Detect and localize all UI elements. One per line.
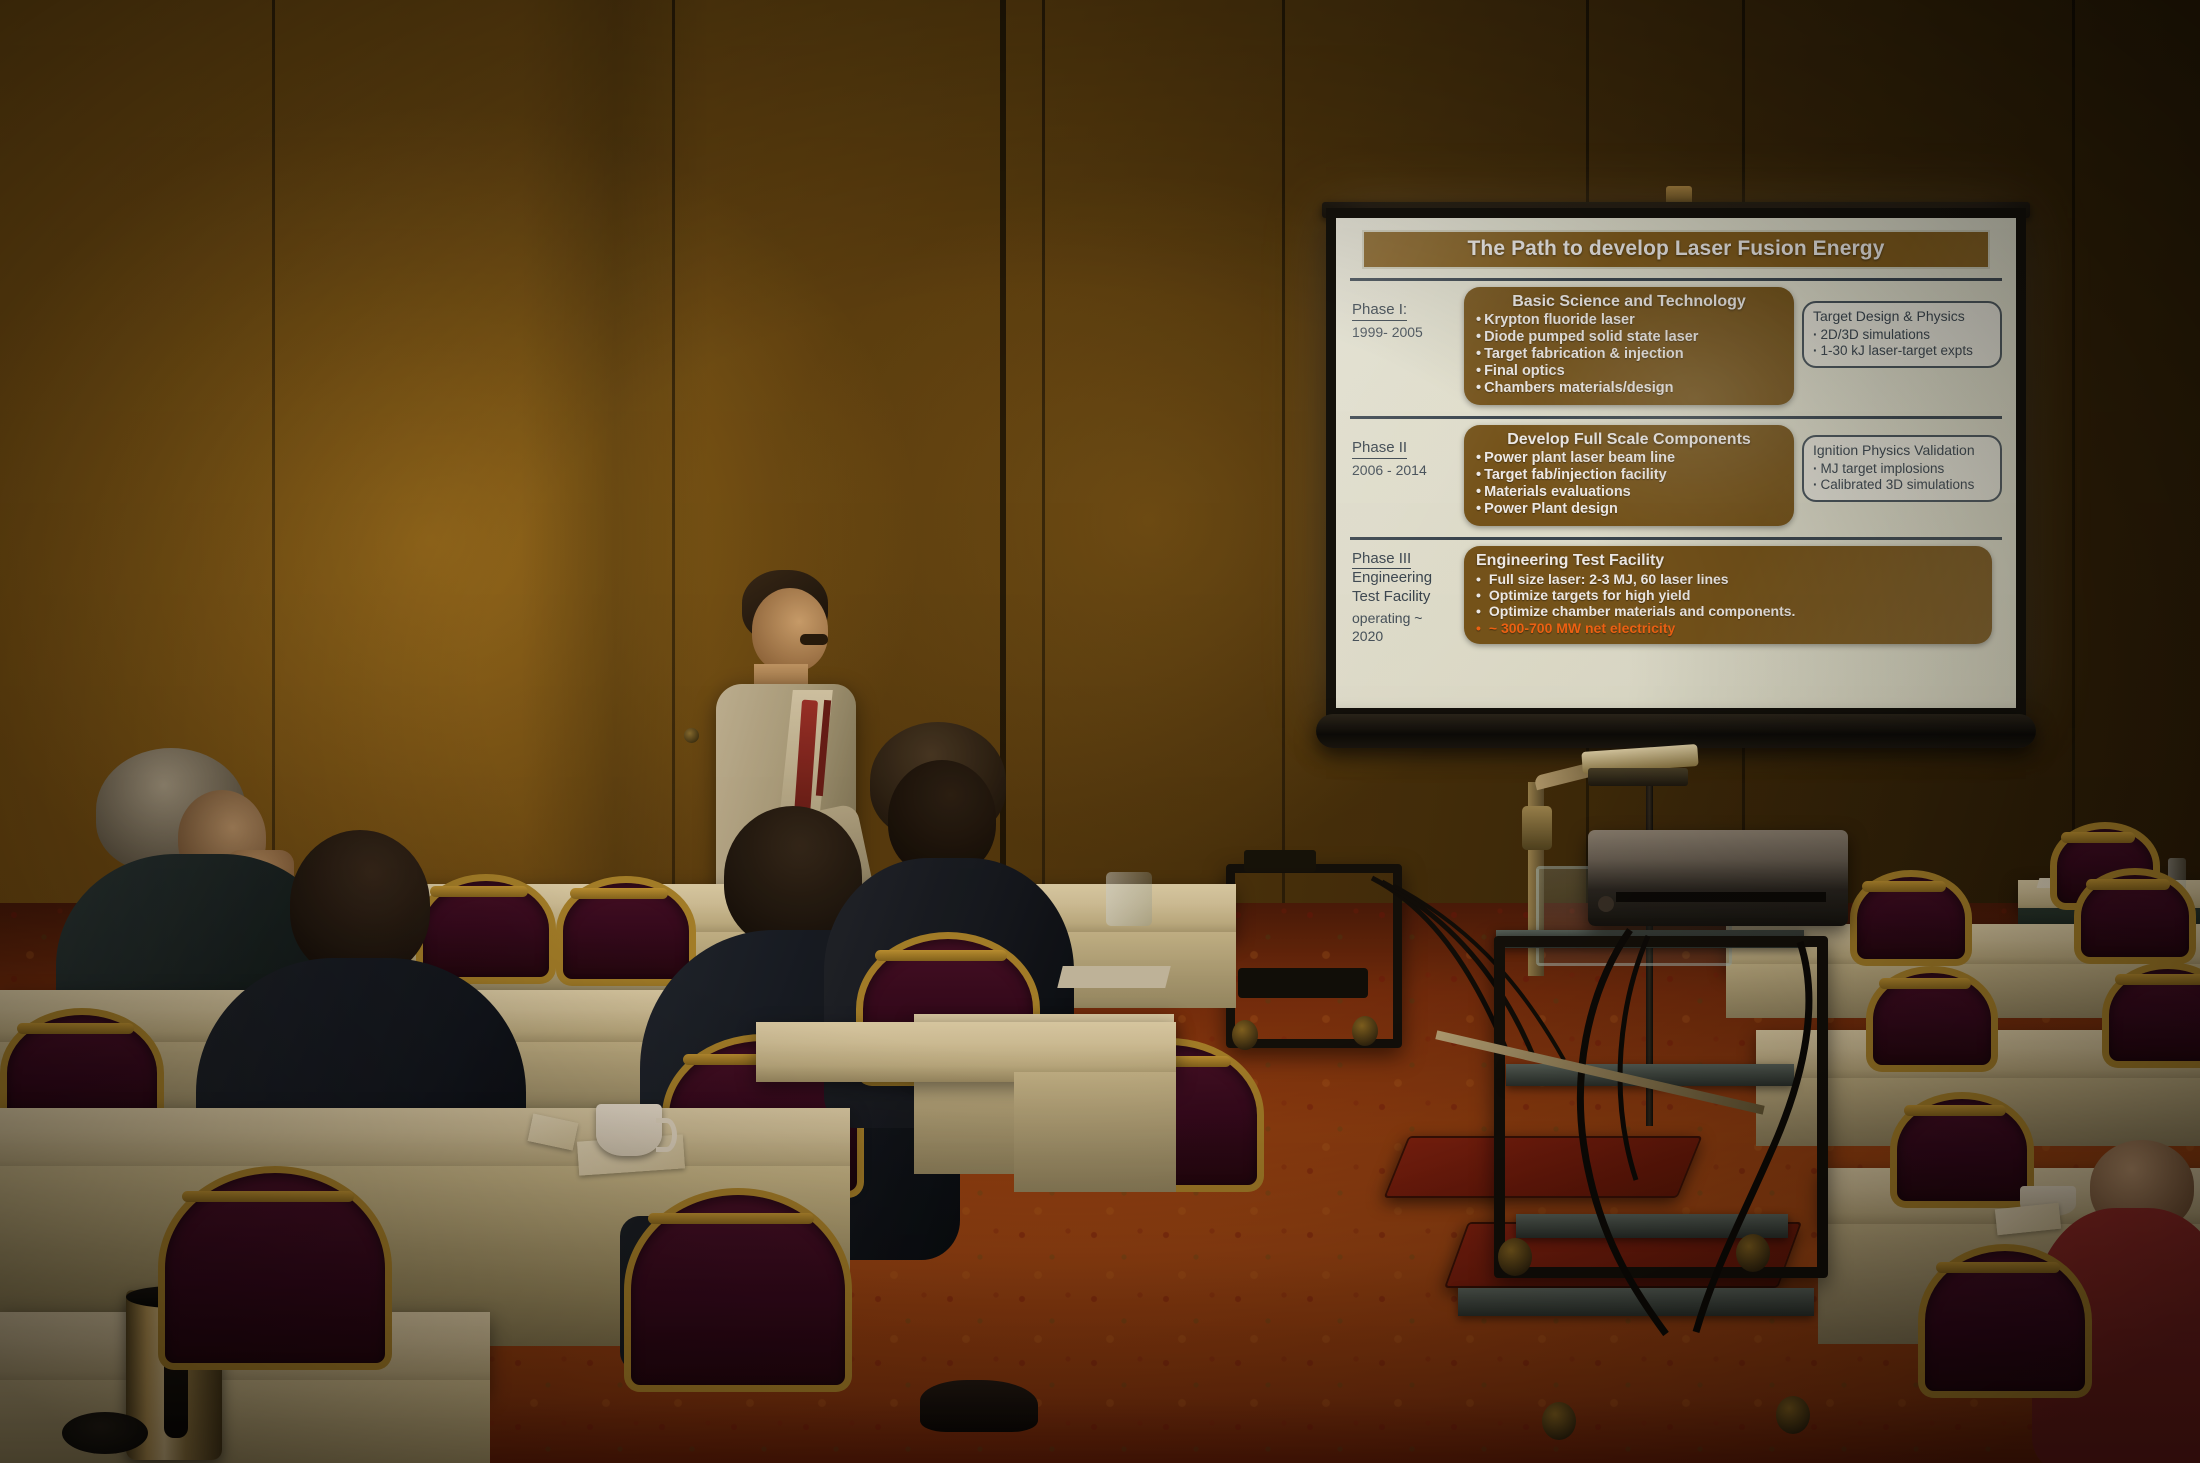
phase-label: Phase III Engineering Test Facility oper… xyxy=(1352,546,1456,646)
banquet-chair xyxy=(1866,966,1984,1058)
presenter-moustache xyxy=(800,634,828,645)
wall-fixture xyxy=(684,728,699,743)
cart-caster xyxy=(1542,1402,1576,1440)
av-device xyxy=(1244,850,1316,872)
banquet-chair xyxy=(416,874,542,970)
bullet-item: Optimize chamber materials and component… xyxy=(1476,603,1980,619)
bullet-item: Krypton fluoride laser xyxy=(1476,312,1782,329)
phase-label: Phase I: 1999- 2005 xyxy=(1352,287,1456,341)
phase-name: Phase III xyxy=(1352,550,1411,570)
chair-back-rail xyxy=(2061,832,2136,843)
bullet-item: 2D/3D simulations xyxy=(1813,327,1991,343)
bullet-item: Materials evaluations xyxy=(1476,484,1782,501)
chair-back-rail xyxy=(875,950,1008,961)
av-device xyxy=(1238,968,1368,998)
overhead-projector-mirror-housing xyxy=(1588,768,1688,786)
phase-main-box: Basic Science and Technology Krypton flu… xyxy=(1464,287,1794,405)
slide-divider xyxy=(1350,537,2002,540)
cart-cables xyxy=(1470,918,1830,1338)
side-bullet-list: MJ target implosions Calibrated 3D simul… xyxy=(1813,461,1991,494)
slide-phase-row: Phase I: 1999- 2005 Basic Science and Te… xyxy=(1348,285,2004,407)
bullet-item: Calibrated 3D simulations xyxy=(1813,477,1991,493)
box-bullet-list: Krypton fluoride laser Diode pumped soli… xyxy=(1476,312,1782,397)
person-head xyxy=(290,830,430,978)
phase-main-box: Engineering Test Facility Full size lase… xyxy=(1464,546,1992,645)
phase-years: operating ~ 2020 xyxy=(1352,609,1456,645)
overhead-projector-focus-knob xyxy=(1522,806,1552,850)
chair-back-rail xyxy=(570,888,668,899)
phase-side-box: Target Design & Physics 2D/3D simulation… xyxy=(1802,301,2002,368)
bullet-item: 1-30 kJ laser-target expts xyxy=(1813,343,1991,359)
phase-name: Phase I: xyxy=(1352,301,1407,321)
box-heading: Develop Full Scale Components xyxy=(1476,431,1782,449)
coffee-cup xyxy=(596,1104,662,1156)
banquet-chair xyxy=(1918,1244,2078,1384)
slide-title: The Path to develop Laser Fusion Energy xyxy=(1364,237,1988,261)
banquet-chair xyxy=(0,1008,150,1124)
mug-lid xyxy=(62,1412,148,1454)
chair-back-rail xyxy=(182,1191,354,1202)
screen-bottom-bar xyxy=(1316,714,2036,748)
slide-divider xyxy=(1350,416,2002,419)
box-bullet-list: Power plant laser beam line Target fab/i… xyxy=(1476,450,1782,518)
banquet-chair xyxy=(556,876,682,972)
slide-phase-row: Phase III Engineering Test Facility oper… xyxy=(1348,544,2004,648)
phase-name-line2: Engineering xyxy=(1352,569,1456,588)
phase-label: Phase II 2006 - 2014 xyxy=(1352,425,1456,479)
chair-back-rail xyxy=(430,886,528,897)
chair-back-rail xyxy=(17,1023,134,1034)
banquet-chair xyxy=(1850,870,1958,952)
bullet-item: Power Plant design xyxy=(1476,501,1782,518)
bullet-item: Target fabrication & injection xyxy=(1476,346,1782,363)
projection-screen: The Path to develop Laser Fusion Energy … xyxy=(1326,208,2026,748)
phase-main-box: Develop Full Scale Components Power plan… xyxy=(1464,425,1794,526)
box-bullet-list: Full size laser: 2-3 MJ, 60 laser lines … xyxy=(1476,571,1980,637)
chair-back-rail xyxy=(2086,879,2170,890)
person-shoe xyxy=(920,1380,1038,1432)
chair-back-rail xyxy=(1904,1105,2005,1116)
phase-name: Phase II xyxy=(1352,439,1407,459)
side-box-heading: Target Design & Physics xyxy=(1813,308,1991,324)
bullet-item: Target fab/injection facility xyxy=(1476,467,1782,484)
table-skirt xyxy=(1014,1072,1176,1192)
projector xyxy=(1588,830,1848,926)
phase-side-box: Ignition Physics Validation MJ target im… xyxy=(1802,435,2002,502)
slide-title-bar: The Path to develop Laser Fusion Energy xyxy=(1362,230,1990,269)
banquet-chair xyxy=(2102,962,2200,1054)
bullet-item: Final optics xyxy=(1476,363,1782,380)
banquet-chair xyxy=(2074,868,2182,950)
bullet-item: Diode pumped solid state laser xyxy=(1476,329,1782,346)
water-bottle xyxy=(1106,872,1152,926)
phase-name-line3: Test Facility xyxy=(1352,588,1456,607)
projector-lens xyxy=(1598,896,1614,912)
bullet-item: MJ target implosions xyxy=(1813,461,1991,477)
presentation-slide: The Path to develop Laser Fusion Energy … xyxy=(1336,218,2016,708)
phase-years: 1999- 2005 xyxy=(1352,323,1456,341)
chair-back-rail xyxy=(1936,1262,2061,1273)
bullet-item: Optimize targets for high yield xyxy=(1476,587,1980,603)
projector-vent xyxy=(1616,892,1826,902)
side-box-heading: Ignition Physics Validation xyxy=(1813,442,1991,458)
banquet-chair xyxy=(624,1188,838,1378)
banquet-chair xyxy=(1890,1092,2020,1194)
conference-room-photo: The Path to develop Laser Fusion Energy … xyxy=(0,0,2200,1463)
chair-back-rail xyxy=(1862,881,1946,892)
box-heading: Engineering Test Facility xyxy=(1476,552,1980,570)
bullet-item: Chambers materials/design xyxy=(1476,380,1782,397)
side-bullet-list: 2D/3D simulations 1-30 kJ laser-target e… xyxy=(1813,327,1991,360)
screen-surface: The Path to develop Laser Fusion Energy … xyxy=(1336,218,2016,708)
phase-years: 2006 - 2014 xyxy=(1352,461,1456,479)
bullet-item: Power plant laser beam line xyxy=(1476,450,1782,467)
coffee-cup-handle xyxy=(656,1118,677,1152)
bullet-item-highlight: ~ 300-700 MW net electricity xyxy=(1476,620,1980,636)
chair-back-rail xyxy=(648,1213,815,1224)
presenter-head xyxy=(752,588,828,672)
slide-divider xyxy=(1350,278,2002,281)
slide-phase-row: Phase II 2006 - 2014 Develop Full Scale … xyxy=(1348,423,2004,528)
chair-back-rail xyxy=(2115,974,2200,985)
cart-caster xyxy=(1776,1396,1810,1434)
paper-sheet xyxy=(1057,966,1170,988)
bullet-item: Full size laser: 2-3 MJ, 60 laser lines xyxy=(1476,571,1980,587)
box-heading: Basic Science and Technology xyxy=(1476,293,1782,311)
chair-back-rail xyxy=(1879,978,1971,989)
banquet-chair xyxy=(158,1166,378,1356)
